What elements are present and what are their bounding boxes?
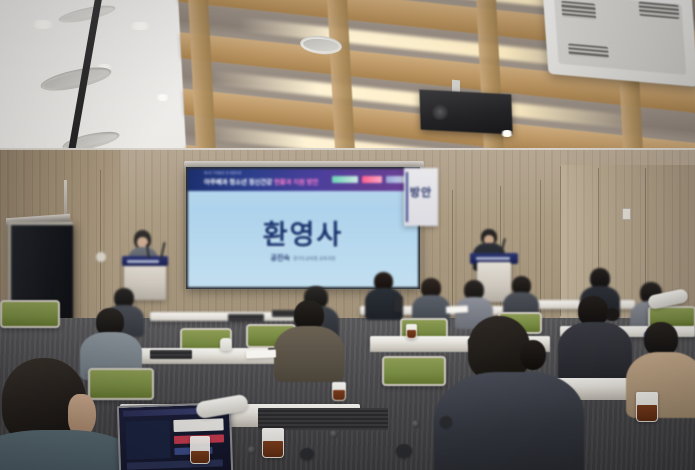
projector-lens-icon — [432, 104, 448, 120]
desk-object — [396, 444, 412, 458]
white-tumbler — [220, 338, 232, 351]
logo-green-icon — [332, 176, 358, 183]
banner-text: 방안 — [404, 184, 438, 200]
slide-logo-row — [332, 176, 410, 183]
chair-green — [88, 368, 154, 400]
slide-title: 환영사 — [188, 213, 418, 252]
downlight-icon — [500, 130, 514, 137]
paper-cup — [262, 428, 284, 458]
paper-cup — [332, 382, 346, 401]
paper-cup — [406, 324, 417, 339]
slide-kicker-text: 제1부 주제발표 및 종합토론 — [204, 171, 242, 175]
desk-power-module — [150, 350, 192, 359]
downlight-icon — [155, 94, 170, 101]
downlight-icon — [30, 20, 56, 29]
paper-document — [246, 349, 276, 358]
paper-cup — [636, 392, 658, 422]
ceiling-ac-unit — [542, 0, 695, 87]
screen-frame: 제1부 주제발표 및 종합토론 아주배과 청소년 정신건강 현황과 지원 방안 … — [186, 167, 420, 289]
slide-headline-part-a: 아주배과 청소년 정신건강 — [204, 179, 272, 186]
slide-speaker-line: 공진숙경기도교육청 교육국장 — [188, 253, 418, 263]
chair-caster — [248, 446, 256, 454]
desk-cable-tray — [258, 408, 388, 430]
chair-green — [0, 300, 60, 328]
downlight-icon — [128, 22, 152, 30]
slide-speaker-affiliation: 경기도교육청 교육국장 — [293, 256, 336, 261]
presentation-slide: 제1부 주제발표 및 종합토론 아주배과 청소년 정신건강 현황과 지원 방안 … — [188, 169, 418, 287]
plant-pot-icon — [96, 252, 106, 262]
chair-caster — [412, 420, 420, 428]
wall-switch-plate — [622, 208, 631, 220]
hair-bun — [520, 340, 546, 370]
slide-headline: 아주배과 청소년 정신건강 현황과 지원 방안 — [204, 176, 318, 186]
chair-caster — [330, 430, 338, 438]
slide-headline-part-b: 현황과 지원 방안 — [274, 179, 319, 186]
smartphone-standing — [394, 296, 403, 312]
standing-banner: 방안 — [404, 168, 438, 226]
chair-green — [382, 356, 446, 386]
slide-speaker-name: 공진숙 — [271, 255, 290, 262]
logo-pink-icon — [362, 176, 382, 183]
paper-document — [446, 305, 468, 313]
paper-cup — [190, 436, 210, 464]
desk-power-module — [228, 314, 264, 321]
desk-object — [300, 448, 314, 460]
desk-object — [440, 416, 452, 428]
seminar-room-photo: 제1부 주제발표 및 종합토론 아주배과 청소년 정신건강 현황과 지원 방안 … — [0, 0, 695, 470]
